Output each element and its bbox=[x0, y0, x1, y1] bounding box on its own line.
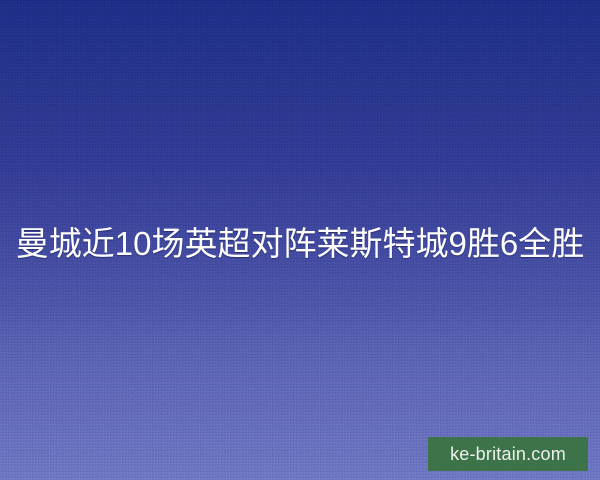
headline-banner-title: 曼城近10场英超对阵莱斯特城9胜6全胜 bbox=[0, 219, 600, 267]
watermark-domain-label: ke-britain.com bbox=[450, 445, 566, 463]
headline-text: 曼城近10场英超对阵莱斯特城9胜6全胜 bbox=[16, 227, 584, 260]
banner-image: 曼城近10场英超对阵莱斯特城9胜6全胜 ke-britain.com bbox=[0, 0, 600, 480]
site-watermark-badge: ke-britain.com bbox=[428, 437, 588, 471]
